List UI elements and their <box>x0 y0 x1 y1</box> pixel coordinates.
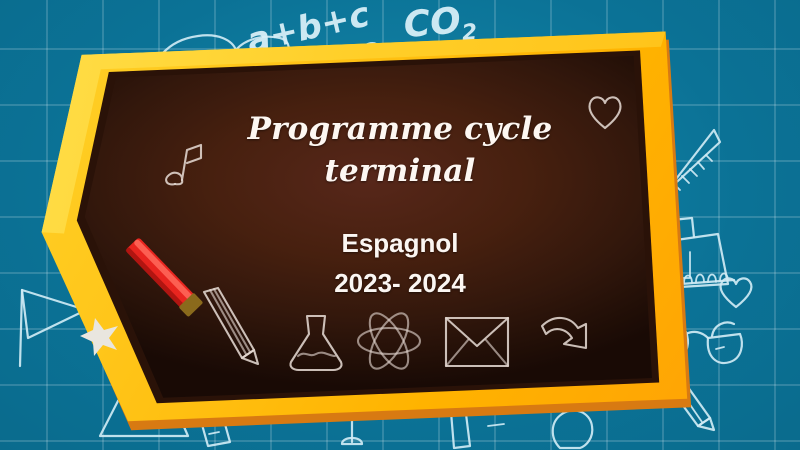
marker-star-tip <box>80 318 118 356</box>
red-marker <box>0 0 800 450</box>
marker-highlight <box>133 239 198 306</box>
chalkboard: Programme cycle terminal Espagnol 2023- … <box>0 0 800 450</box>
slide-canvas: a+b+c CO2 Programme cycle terminal Espag… <box>0 0 800 450</box>
